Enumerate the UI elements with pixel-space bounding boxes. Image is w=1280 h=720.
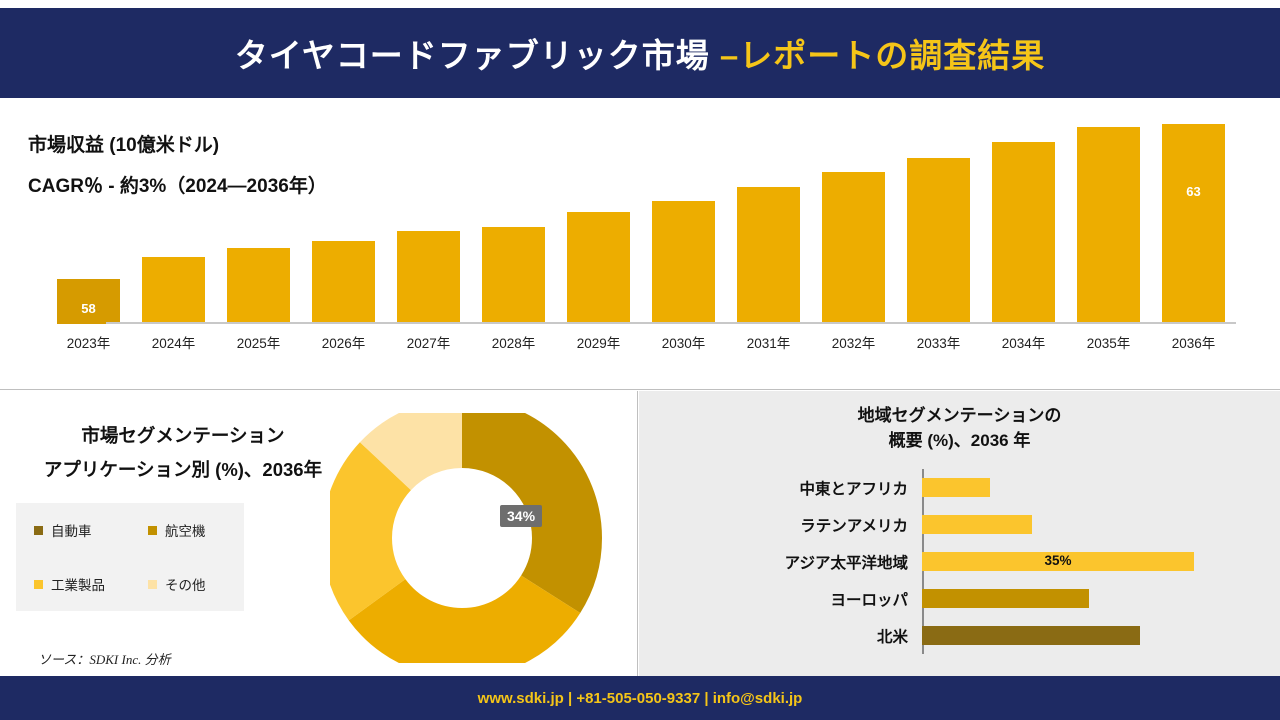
donut-svg (330, 413, 615, 663)
revenue-x-label: 2032年 (811, 332, 896, 356)
legend-item-label: その他 (165, 574, 206, 594)
regional-bar (922, 515, 1032, 534)
revenue-bar-column (216, 124, 301, 324)
revenue-x-label: 2035年 (1066, 332, 1151, 356)
regional-bar-label: 中東とアフリカ (639, 477, 922, 499)
revenue-x-label: 2036年 (1151, 332, 1236, 356)
regional-bar (922, 626, 1140, 645)
revenue-bar-chart: 5863 2023年2024年2025年2026年2027年2028年2029年… (46, 116, 1236, 364)
revenue-bar: 63 (1162, 124, 1225, 324)
regional-bar-row: 北米 (639, 617, 1280, 654)
revenue-x-label: 2028年 (471, 332, 556, 356)
regional-bar-label: アジア太平洋地域 (639, 551, 922, 573)
revenue-x-label: 2030年 (641, 332, 726, 356)
revenue-bar (822, 172, 885, 324)
revenue-bar-column (981, 124, 1066, 324)
legend-item-label: 航空機 (165, 520, 206, 540)
revenue-x-label: 2026年 (301, 332, 386, 356)
segmentation-title: 市場セグメンテーション アプリケーション別 (%)、2036年 (38, 419, 328, 487)
revenue-bar-column (556, 124, 641, 324)
revenue-x-axis-labels: 2023年2024年2025年2026年2027年2028年2029年2030年… (46, 332, 1236, 356)
revenue-bar-column (301, 124, 386, 324)
revenue-x-label: 2029年 (556, 332, 641, 356)
revenue-bar (737, 187, 800, 324)
revenue-x-label: 2033年 (896, 332, 981, 356)
regional-bar-value: 35% (922, 553, 1194, 568)
revenue-bar-column (896, 124, 981, 324)
revenue-bar (482, 227, 545, 324)
page-title: タイヤコードファブリック市場 –レポートの調査結果 (235, 29, 1046, 77)
revenue-bar (142, 257, 205, 324)
donut-label-automotive: 34% (500, 505, 542, 527)
legend-item: 自動車 (16, 520, 130, 540)
legend-item: 工業製品 (16, 574, 130, 594)
legend-swatch-icon (34, 580, 43, 589)
revenue-axis-line (106, 322, 1236, 324)
footer-contact: www.sdki.jp | +81-505-050-9337 | info@sd… (478, 690, 803, 707)
regional-bar-label: ラテンアメリカ (639, 514, 922, 536)
revenue-bar (227, 248, 290, 324)
segmentation-title-line2: アプリケーション別 (%)、2036年 (38, 453, 328, 487)
revenue-bar-column (1066, 124, 1151, 324)
revenue-chart-panel: 市場収益 (10億米ドル) CAGR％ - 約3%（2024―2036年） 58… (0, 98, 1280, 390)
regional-title: 地域セグメンテーションの 概要 (%)、2036 年 (639, 403, 1280, 453)
regional-title-line2: 概要 (%)、2036 年 (639, 428, 1280, 453)
regional-bar-row: ラテンアメリカ (639, 506, 1280, 543)
revenue-bars: 5863 (46, 124, 1236, 324)
regional-bar (922, 589, 1089, 608)
revenue-bar-column (641, 124, 726, 324)
source-note: ソース：SDKI Inc. 分析 (38, 649, 171, 668)
revenue-bar-column (471, 124, 556, 324)
regional-bar-row: 中東とアフリカ (639, 469, 1280, 506)
revenue-bar (652, 201, 715, 324)
revenue-bar (312, 241, 375, 324)
revenue-bar-column: 63 (1151, 124, 1236, 324)
revenue-x-label: 2023年 (46, 332, 131, 356)
regional-bar (922, 478, 990, 497)
legend-item-label: 自動車 (51, 520, 92, 540)
page-title-accent: –レポートの調査結果 (720, 37, 1045, 74)
revenue-x-label: 2025年 (216, 332, 301, 356)
legend-item: その他 (130, 574, 244, 594)
regional-bar-row: ヨーロッパ (639, 580, 1280, 617)
regional-title-line1: 地域セグメンテーションの (639, 403, 1280, 428)
revenue-x-label: 2027年 (386, 332, 471, 356)
revenue-bar (397, 231, 460, 324)
legend-item: 航空機 (130, 520, 244, 540)
segmentation-panel: 市場セグメンテーション アプリケーション別 (%)、2036年 自動車航空機工業… (0, 391, 638, 676)
segmentation-donut-chart: 34% (330, 413, 615, 663)
revenue-x-label: 2031年 (726, 332, 811, 356)
regional-bar-label: 北米 (639, 625, 922, 647)
revenue-bar (567, 212, 630, 324)
revenue-bar-column (726, 124, 811, 324)
revenue-bar-column: 58 (46, 124, 131, 324)
revenue-bar (1077, 127, 1140, 324)
revenue-bar-value: 58 (57, 301, 120, 316)
legend-item-label: 工業製品 (51, 574, 105, 594)
revenue-x-label: 2024年 (131, 332, 216, 356)
revenue-bar (992, 142, 1055, 324)
segmentation-title-line1: 市場セグメンテーション (38, 419, 328, 453)
regional-bar: 35% (922, 552, 1194, 571)
legend-swatch-icon (34, 526, 43, 535)
legend-swatch-icon (148, 580, 157, 589)
segmentation-legend: 自動車航空機工業製品その他 (16, 503, 244, 611)
regional-bar-row: アジア太平洋地域35% (639, 543, 1280, 580)
revenue-bar-column (386, 124, 471, 324)
revenue-bar-column (811, 124, 896, 324)
revenue-bar-value: 63 (1162, 184, 1225, 199)
legend-swatch-icon (148, 526, 157, 535)
revenue-bar-column (131, 124, 216, 324)
page-header: タイヤコードファブリック市場 –レポートの調査結果 (0, 8, 1280, 98)
revenue-x-label: 2034年 (981, 332, 1066, 356)
page-title-main: タイヤコードファブリック市場 (235, 37, 720, 74)
page-footer: www.sdki.jp | +81-505-050-9337 | info@sd… (0, 676, 1280, 720)
revenue-bar (907, 158, 970, 324)
revenue-bar: 58 (57, 279, 120, 324)
regional-panel: 地域セグメンテーションの 概要 (%)、2036 年 中東とアフリカラテンアメリ… (639, 391, 1280, 676)
regional-bars: 中東とアフリカラテンアメリカアジア太平洋地域35%ヨーロッパ北米 (639, 469, 1280, 654)
regional-bar-label: ヨーロッパ (639, 588, 922, 610)
